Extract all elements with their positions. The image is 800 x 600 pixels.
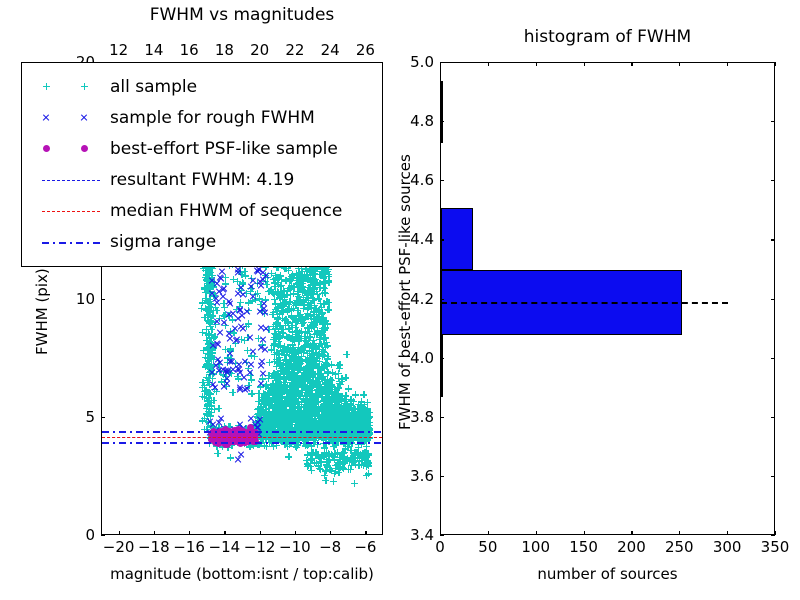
right-x-tick-label: 150 xyxy=(569,539,598,555)
left-y-tick-label: 0 xyxy=(85,527,95,543)
left-top-tick-label: 16 xyxy=(180,42,199,58)
legend-label: median FHWM of sequence xyxy=(110,201,342,221)
left-x-tick-label: −10 xyxy=(279,539,311,555)
mean-fwhm-line xyxy=(441,302,728,304)
right-x-axis-label: number of sources xyxy=(440,566,775,583)
left-top-tick-label: 12 xyxy=(109,42,128,58)
dashed-line-icon xyxy=(32,200,110,222)
right-x-tick-label: 300 xyxy=(713,539,742,555)
left-top-tick-label: 26 xyxy=(356,42,375,58)
legend-label: sample for rough FWHM xyxy=(110,108,315,128)
histogram-data-layer xyxy=(441,63,774,534)
right-y-tick-label: 5.0 xyxy=(410,54,434,70)
left-x-tick-label: −20 xyxy=(103,539,135,555)
right-x-tick-label: 250 xyxy=(665,539,694,555)
plus-marker-icon xyxy=(32,76,110,98)
histogram-bar xyxy=(441,335,443,397)
left-top-tick-label: 14 xyxy=(144,42,163,58)
reference-line xyxy=(102,442,382,444)
legend-item-all-sample: all sample xyxy=(32,71,372,102)
histogram-axes xyxy=(440,62,775,535)
legend-label: best-effort PSF-like sample xyxy=(110,139,338,159)
reference-line xyxy=(102,437,382,438)
histogram-bar xyxy=(441,208,473,270)
left-x-tick-label: −14 xyxy=(209,539,241,555)
left-x-tick-label: −6 xyxy=(354,539,376,555)
left-top-tick-label: 20 xyxy=(250,42,269,58)
left-top-tick-label: 24 xyxy=(321,42,340,58)
left-x-tick-label: −18 xyxy=(138,539,170,555)
left-y-tick-label: 5 xyxy=(85,409,95,425)
left-top-tick-label: 22 xyxy=(285,42,304,58)
legend-item-median-fhwm: median FHWM of sequence xyxy=(32,195,372,226)
left-y-axis-label: FWHM (pix) xyxy=(34,268,51,355)
legend-label: all sample xyxy=(110,77,197,97)
reference-line xyxy=(102,431,382,433)
legend-label: sigma range xyxy=(110,232,216,252)
right-x-tick-label: 0 xyxy=(435,539,445,555)
right-y-tick-label: 3.6 xyxy=(410,468,434,484)
legend-item-rough-fwhm: sample for rough FWHM xyxy=(32,102,372,133)
right-y-axis-label: FWHM of best-effort PSF-like sources xyxy=(397,154,414,430)
right-y-tick-label: 4.8 xyxy=(410,113,434,129)
legend-label: resultant FWHM: 4.19 xyxy=(110,170,294,190)
dashed-line-icon xyxy=(32,169,110,191)
legend-item-resultant-fwhm: resultant FWHM: 4.19 xyxy=(32,164,372,195)
right-x-tick-label: 50 xyxy=(478,539,497,555)
left-x-tick-label: −16 xyxy=(173,539,205,555)
right-x-tick-label: 100 xyxy=(521,539,550,555)
left-x-tick-label: −12 xyxy=(244,539,276,555)
right-x-tick-label: 350 xyxy=(761,539,790,555)
histogram-bar xyxy=(441,81,443,143)
figure-canvas: FWHM vs magnitudes histogram of FWHM −20… xyxy=(0,0,800,600)
left-x-axis-label: magnitude (bottom:isnt / top:calib) xyxy=(101,566,383,583)
left-x-tick-label: −8 xyxy=(319,539,341,555)
left-top-tick-label: 18 xyxy=(215,42,234,58)
legend-item-sigma-range: sigma range xyxy=(32,226,372,257)
left-y-tick-label: 10 xyxy=(76,291,95,307)
left-plot-title: FWHM vs magnitudes xyxy=(101,6,383,25)
right-y-tick-label: 3.4 xyxy=(410,527,434,543)
legend-box: all sample sample for rough FWHM best-ef… xyxy=(21,62,383,267)
circle-marker-icon xyxy=(32,138,110,160)
legend-item-psf-sample: best-effort PSF-like sample xyxy=(32,133,372,164)
right-plot-title: histogram of FWHM xyxy=(440,28,775,47)
right-x-tick-label: 200 xyxy=(617,539,646,555)
dashdot-line-icon xyxy=(32,231,110,253)
cross-marker-icon xyxy=(32,107,110,129)
